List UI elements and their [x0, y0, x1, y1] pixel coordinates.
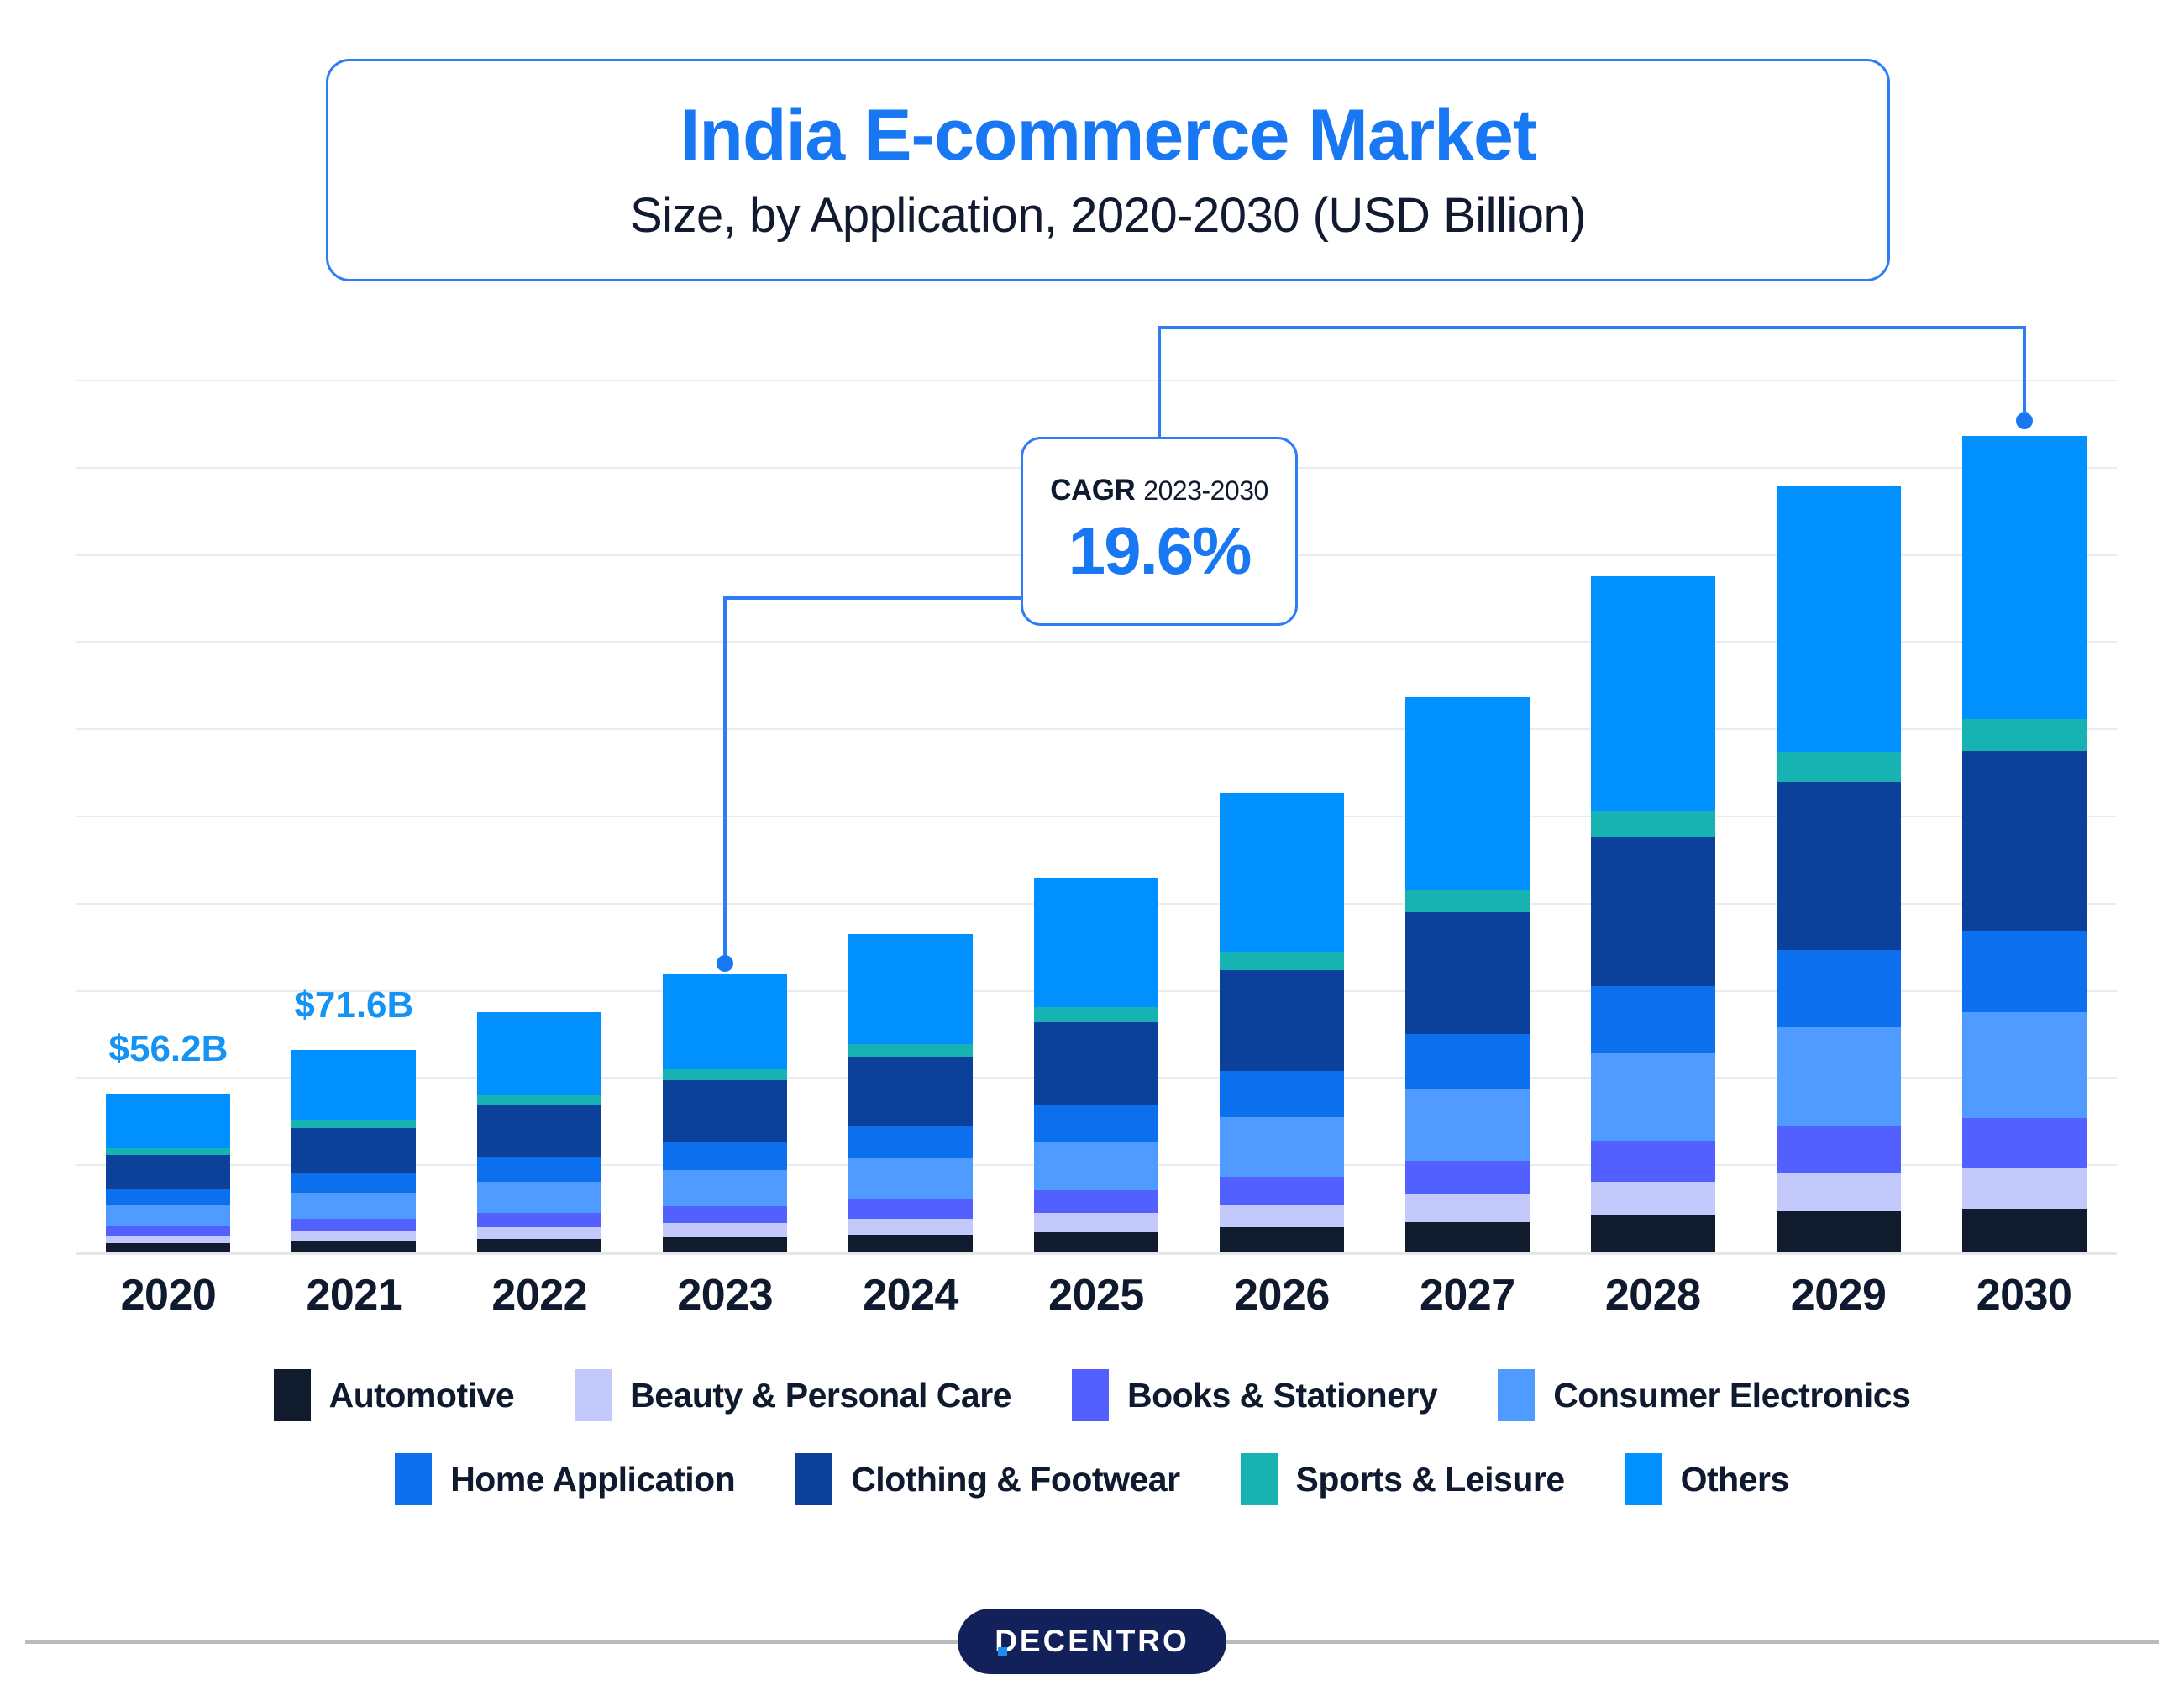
x-axis-tick: 2028: [1561, 1270, 1746, 1320]
bar-segment[interactable]: [477, 1213, 601, 1227]
bar-column[interactable]: [1777, 486, 1901, 1252]
x-axis-tick: 2029: [1746, 1270, 1931, 1320]
bar-segment[interactable]: [1220, 952, 1344, 970]
bar-segment[interactable]: [291, 1193, 416, 1219]
legend-swatch: [274, 1369, 311, 1421]
bar-segment[interactable]: [1777, 1126, 1901, 1173]
bar-segment[interactable]: [291, 1231, 416, 1241]
bar-segment[interactable]: [1220, 1117, 1344, 1177]
legend-swatch: [395, 1453, 432, 1505]
x-axis-tick: 2030: [1932, 1270, 2117, 1320]
bar-segment[interactable]: [106, 1236, 230, 1243]
bar-column[interactable]: [291, 1050, 416, 1252]
bar-segment[interactable]: [1591, 837, 1715, 986]
legend-swatch: [1241, 1453, 1278, 1505]
bar-segment[interactable]: [1962, 751, 2087, 931]
x-axis-tick: 2022: [447, 1270, 632, 1320]
legend-item[interactable]: Home Application: [395, 1453, 735, 1505]
bar-segment[interactable]: [291, 1173, 416, 1193]
bar-segment[interactable]: [1220, 1177, 1344, 1205]
bar-value-label: $56.2B: [42, 1028, 294, 1070]
bar-segment[interactable]: [1405, 912, 1530, 1034]
bar-segment[interactable]: [1591, 1053, 1715, 1141]
bar-segment[interactable]: [1034, 1142, 1158, 1190]
legend-label: Books & Stationery: [1127, 1376, 1437, 1415]
bar-segment[interactable]: [1220, 793, 1344, 952]
bar-column[interactable]: [1962, 436, 2087, 1252]
bar-segment[interactable]: [1220, 1071, 1344, 1117]
bar-segment[interactable]: [1591, 1141, 1715, 1182]
bar-segment[interactable]: [848, 1044, 973, 1057]
bar-segment[interactable]: [477, 1239, 601, 1252]
chart-legend: AutomotiveBeauty & Personal CareBooks & …: [0, 1369, 2184, 1505]
bar-segment[interactable]: [663, 1237, 787, 1252]
bar-segment[interactable]: [663, 1223, 787, 1237]
legend-swatch: [1498, 1369, 1535, 1421]
bar-column[interactable]: [1405, 697, 1530, 1252]
legend-item[interactable]: Clothing & Footwear: [795, 1453, 1179, 1505]
bar-segment[interactable]: [1777, 1211, 1901, 1252]
page-title: India E-commerce Market: [680, 97, 1536, 173]
bar-segment[interactable]: [477, 1157, 601, 1181]
legend-item[interactable]: Books & Stationery: [1072, 1369, 1437, 1421]
brand-logo: DECENTRO: [958, 1609, 1226, 1674]
bar-segment[interactable]: [663, 1206, 787, 1223]
legend-swatch: [575, 1369, 612, 1421]
legend-item[interactable]: Automotive: [274, 1369, 515, 1421]
infographic-canvas: India E-commerce Market Size, by Applica…: [0, 0, 2184, 1685]
legend-label: Consumer Electronics: [1553, 1376, 1910, 1415]
cagr-callout: CAGR 2023-2030 19.6%: [1021, 437, 1298, 626]
cagr-header: CAGR 2023-2030: [1050, 474, 1268, 507]
bar-segment[interactable]: [1405, 697, 1530, 890]
bar-segment[interactable]: [477, 1227, 601, 1239]
bar-value-label: $71.6B: [228, 984, 480, 1026]
bar-segment[interactable]: [291, 1128, 416, 1173]
bar-segment[interactable]: [291, 1050, 416, 1120]
legend-label: Home Application: [450, 1460, 735, 1499]
bar-segment[interactable]: [1962, 1168, 2087, 1209]
cagr-label: CAGR: [1050, 474, 1135, 507]
legend-item[interactable]: Others: [1625, 1453, 1789, 1505]
bar-segment[interactable]: [1405, 1161, 1530, 1194]
bar-segment[interactable]: [1777, 1173, 1901, 1211]
bar-segment[interactable]: [106, 1226, 230, 1235]
bar-segment[interactable]: [291, 1219, 416, 1231]
bar-segment[interactable]: [1962, 1118, 2087, 1168]
bar-segment[interactable]: [1034, 1007, 1158, 1022]
bar-segment[interactable]: [477, 1095, 601, 1105]
bar-segment[interactable]: [1591, 811, 1715, 837]
bar-segment[interactable]: [1405, 890, 1530, 911]
bar-segment[interactable]: [106, 1189, 230, 1205]
bar-segment[interactable]: [1777, 1027, 1901, 1127]
bar-segment[interactable]: [1591, 1182, 1715, 1216]
bar-segment[interactable]: [1220, 1205, 1344, 1227]
x-axis-tick: 2020: [76, 1270, 260, 1320]
bar-segment[interactable]: [1777, 782, 1901, 950]
bar-segment[interactable]: [1962, 436, 2087, 719]
bar-segment[interactable]: [1034, 1232, 1158, 1252]
cagr-value: 19.6%: [1068, 512, 1251, 590]
bar-column[interactable]: [106, 1094, 230, 1252]
cagr-range: 2023-2030: [1143, 475, 1268, 507]
bar-segment[interactable]: [477, 1105, 601, 1158]
bar-segment[interactable]: [663, 1142, 787, 1169]
legend-label: Sports & Leisure: [1296, 1460, 1565, 1499]
title-card: India E-commerce Market Size, by Applica…: [326, 59, 1890, 281]
legend-label: Clothing & Footwear: [851, 1460, 1179, 1499]
footer: DECENTRO: [0, 1609, 2184, 1684]
legend-label: Others: [1681, 1460, 1789, 1499]
bar-segment[interactable]: [1034, 878, 1158, 1007]
bar-segment[interactable]: [1034, 1190, 1158, 1213]
connector-line: [1158, 326, 2026, 329]
bar-segment[interactable]: [848, 1235, 973, 1252]
bar-column[interactable]: [1591, 576, 1715, 1252]
bar-segment[interactable]: [848, 1219, 973, 1235]
bar-segment[interactable]: [848, 1158, 973, 1199]
bar-segment[interactable]: [1962, 1209, 2087, 1252]
legend-label: Automotive: [329, 1376, 515, 1415]
legend-swatch: [1072, 1369, 1109, 1421]
legend-row-2: Home ApplicationClothing & FootwearSport…: [0, 1453, 2184, 1505]
bar-segment[interactable]: [1962, 1012, 2087, 1118]
connector-endpoint-dot: [2016, 412, 2033, 429]
bar-segment[interactable]: [1405, 1222, 1530, 1252]
brand-name: DECENTRO: [995, 1624, 1189, 1659]
bar-segment[interactable]: [1220, 1227, 1344, 1252]
bar-segment[interactable]: [1777, 486, 1901, 751]
bar-column[interactable]: [663, 974, 787, 1252]
connector-line: [723, 596, 727, 958]
x-axis-labels: 2020202120222023202420252026202720282029…: [76, 1270, 2117, 1337]
brand-dot-icon: [998, 1647, 1007, 1656]
legend-item[interactable]: Sports & Leisure: [1241, 1453, 1565, 1505]
bar-segment[interactable]: [1591, 576, 1715, 810]
bar-segment[interactable]: [1591, 1215, 1715, 1252]
bar-segment[interactable]: [291, 1241, 416, 1252]
bar-segment[interactable]: [106, 1243, 230, 1252]
bar-segment[interactable]: [848, 1057, 973, 1126]
x-axis-tick: 2026: [1189, 1270, 1374, 1320]
bar-segment[interactable]: [848, 1126, 973, 1158]
bar-segment[interactable]: [106, 1155, 230, 1190]
bar-segment[interactable]: [663, 1069, 787, 1080]
legend-item[interactable]: Consumer Electronics: [1498, 1369, 1910, 1421]
bar-segment[interactable]: [848, 934, 973, 1044]
bar-segment[interactable]: [106, 1148, 230, 1154]
bar-segment[interactable]: [106, 1094, 230, 1148]
legend-swatch: [1625, 1453, 1662, 1505]
bar-segment[interactable]: [663, 974, 787, 1070]
bar-segment[interactable]: [1034, 1105, 1158, 1142]
connector-endpoint-dot: [717, 955, 733, 972]
bar-column[interactable]: [1220, 793, 1344, 1252]
bar-segment[interactable]: [291, 1120, 416, 1128]
x-axis-tick: 2023: [633, 1270, 817, 1320]
bar-segment[interactable]: [1405, 1034, 1530, 1089]
legend-item[interactable]: Beauty & Personal Care: [575, 1369, 1011, 1421]
bar-segment[interactable]: [1405, 1089, 1530, 1162]
connector-line: [723, 596, 1022, 600]
legend-swatch: [795, 1453, 832, 1505]
legend-label: Beauty & Personal Care: [630, 1376, 1011, 1415]
bar-segment[interactable]: [1777, 752, 1901, 782]
connector-line: [1158, 326, 1161, 437]
bar-column[interactable]: [1034, 878, 1158, 1252]
bar-segment[interactable]: [1962, 719, 2087, 752]
x-axis-tick: 2021: [261, 1270, 446, 1320]
bar-column[interactable]: [477, 1012, 601, 1252]
bar-segment[interactable]: [663, 1170, 787, 1206]
bar-segment[interactable]: [1591, 986, 1715, 1053]
x-axis-tick: 2024: [818, 1270, 1003, 1320]
bar-column[interactable]: [848, 934, 973, 1252]
bar-segment[interactable]: [106, 1205, 230, 1226]
bar-segment[interactable]: [477, 1182, 601, 1213]
page-subtitle: Size, by Application, 2020-2030 (USD Bil…: [630, 189, 1586, 243]
bar-segment[interactable]: [663, 1080, 787, 1142]
bar-segment[interactable]: [1034, 1213, 1158, 1231]
bar-segment[interactable]: [1777, 950, 1901, 1026]
bar-segment[interactable]: [1034, 1022, 1158, 1105]
x-axis-tick: 2025: [1004, 1270, 1189, 1320]
x-axis-tick: 2027: [1375, 1270, 1560, 1320]
bar-segment[interactable]: [1220, 970, 1344, 1071]
bar-segment[interactable]: [477, 1012, 601, 1095]
bar-segment[interactable]: [1962, 931, 2087, 1012]
bar-segment[interactable]: [1405, 1194, 1530, 1222]
bar-segment[interactable]: [848, 1199, 973, 1219]
legend-row-1: AutomotiveBeauty & Personal CareBooks & …: [0, 1369, 2184, 1421]
connector-line: [2023, 326, 2026, 412]
